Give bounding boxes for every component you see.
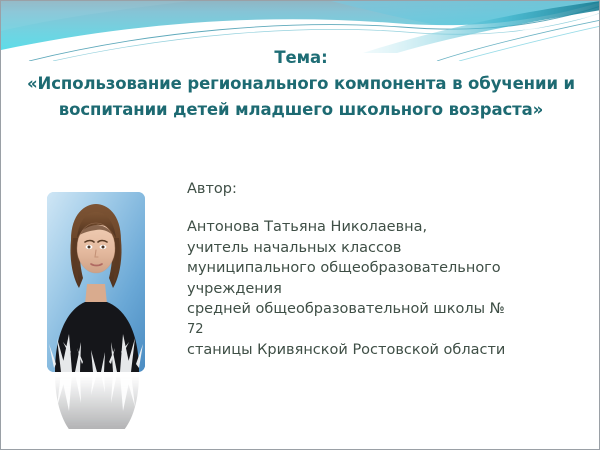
author-line-institution-1: муниципального общеобразовательного [187,258,547,279]
author-info: Автор: Антонова Татьяна Николаевна, учит… [187,179,547,361]
author-line-school: средней общеобразовательной школы № [187,299,547,320]
title-line-2: «Использование регионального компонента … [23,71,579,97]
author-label: Автор: [187,179,547,199]
author-line-location: станицы Кривянской Ростовской области [187,340,547,361]
author-photo-container [47,192,145,372]
author-line-institution-2: учреждения [187,279,547,300]
author-line-name: Антонова Татьяна Николаевна, [187,217,547,238]
title-line-1: Тема: [23,45,579,71]
title-line-3: воспитании детей младшего школьного возр… [23,97,579,123]
author-photo [47,192,145,372]
photo-reflection-graphic [47,373,145,429]
presentation-slide: Тема: «Использование регионального компо… [0,0,600,450]
portrait-graphic [47,192,145,372]
slide-title: Тема: «Использование регионального компо… [23,45,579,123]
photo-reflection [47,373,145,429]
author-line-school-number: 72 [187,320,547,341]
author-line-position: учитель начальных классов [187,238,547,259]
